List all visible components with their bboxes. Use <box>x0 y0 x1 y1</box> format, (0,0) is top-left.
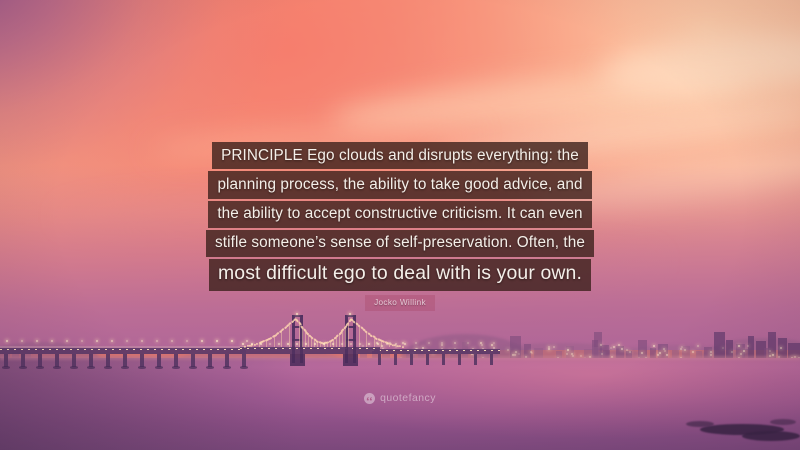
bridge-hanger <box>274 336 275 347</box>
causeway-lamp <box>201 340 203 342</box>
bridge-deck-lamp <box>260 343 262 345</box>
causeway-railing <box>0 346 246 348</box>
quote-line: planning process, the ability to take go… <box>208 171 591 198</box>
causeway-lamp <box>231 340 233 342</box>
bridge-hanger <box>311 336 312 347</box>
main-span-deck-lights <box>240 348 380 349</box>
causeway-lamp <box>51 340 53 342</box>
bridge-deck-lamp <box>341 343 343 345</box>
causeway-pier-base <box>53 366 61 369</box>
bridge-tower-crossbeam <box>345 339 356 341</box>
approach-lamp <box>415 342 417 344</box>
tower-beacon-light <box>349 313 351 315</box>
approach-lamp <box>454 342 456 344</box>
quote-line: the ability to accept constructive criti… <box>208 201 591 228</box>
bridge-hanger <box>330 341 331 347</box>
causeway-lamp <box>126 340 128 342</box>
bridge-hanger <box>374 336 375 347</box>
causeway-lamp <box>6 340 8 342</box>
bridge-hanger <box>317 341 318 347</box>
bridge-deck-lamp <box>278 343 280 345</box>
causeway-pier-base <box>206 366 214 369</box>
author-attribution: Jocko Willink <box>0 292 800 311</box>
rock-outcrop <box>770 419 796 425</box>
bridge-deck-lamp <box>368 343 370 345</box>
causeway-pier-base <box>189 366 197 369</box>
approach-lamp <box>441 342 443 344</box>
causeway-lamp <box>36 340 38 342</box>
causeway-lamp <box>96 340 98 342</box>
bridge-deck-lamp <box>251 343 253 345</box>
bridge-deck-lamp <box>242 343 244 345</box>
bridge-hanger <box>348 322 349 347</box>
causeway-lamp <box>81 340 83 342</box>
causeway-pier-base <box>172 366 180 369</box>
bridge-deck-lamp <box>269 343 271 345</box>
causeway-pier-base <box>155 366 163 369</box>
approach-pier <box>474 354 477 365</box>
causeway-deck-lights <box>0 349 246 350</box>
causeway-pier-base <box>138 366 146 369</box>
quote-poster: PRINCIPLE Ego clouds and disrupts everyt… <box>0 0 800 450</box>
causeway-lamp <box>216 340 218 342</box>
bridge-hanger <box>336 336 337 347</box>
quote-text-block: PRINCIPLE Ego clouds and disrupts everyt… <box>0 142 800 291</box>
approach-lamp <box>493 342 495 344</box>
approach-pier <box>490 354 493 365</box>
approach-pier <box>394 354 397 365</box>
causeway-pier-base <box>104 366 112 369</box>
quote-mark-badge-icon <box>364 393 375 404</box>
author-name: Jocko Willink <box>365 295 435 312</box>
quote-line: most difficult ego to deal with is your … <box>209 259 591 290</box>
tower-beacon-light <box>296 313 298 315</box>
causeway-pier-base <box>19 366 27 369</box>
bridge-deck-lamp <box>377 343 379 345</box>
rock-outcrop <box>686 421 714 427</box>
bridge-hanger <box>281 331 282 347</box>
bridge-deck-lamp <box>350 343 352 345</box>
approach-pier <box>442 354 445 365</box>
bridge-deck-lamp <box>296 343 298 345</box>
causeway-lamp <box>186 340 188 342</box>
causeway-pier-base <box>121 366 129 369</box>
bridge-deck-lamp <box>287 343 289 345</box>
bridge-deck-lamp <box>386 343 388 345</box>
bridge-hanger <box>308 333 309 347</box>
approach-lamp <box>480 342 482 344</box>
bridge-hanger <box>299 322 300 347</box>
causeway-lamp <box>66 340 68 342</box>
watermark: quotefancy <box>0 393 800 404</box>
bridge-hanger <box>389 343 390 347</box>
bridge-hanger <box>339 333 340 347</box>
bridge-deck-lamp <box>359 343 361 345</box>
quote-line: stifle someone’s sense of self-preservat… <box>206 230 594 257</box>
bridge-hanger <box>345 326 346 347</box>
bridge-deck-lamp <box>404 343 406 345</box>
causeway-pier-base <box>240 366 248 369</box>
causeway-pier-base <box>70 366 78 369</box>
bridge-hanger <box>320 342 321 347</box>
causeway-lamp <box>141 340 143 342</box>
approach-lamp <box>428 342 430 344</box>
bridge-hanger <box>381 340 382 347</box>
bridge-hanger <box>327 342 328 347</box>
side-cable <box>401 346 404 348</box>
suspension-bridge <box>0 300 800 390</box>
quote-line: PRINCIPLE Ego clouds and disrupts everyt… <box>212 142 588 169</box>
side-cable <box>253 344 256 346</box>
bridge-tower-base <box>290 354 305 366</box>
approach-pier <box>458 354 461 365</box>
approach-pier <box>426 354 429 365</box>
causeway-pier-base <box>87 366 95 369</box>
causeway-lamp <box>246 340 248 342</box>
causeway-lamp <box>111 340 113 342</box>
bridge-hanger <box>266 340 267 347</box>
bridge-hanger <box>302 326 303 347</box>
rock-outcrop <box>742 431 800 441</box>
causeway-lamp <box>21 340 23 342</box>
approach-pier <box>378 354 381 365</box>
bridge-tower-crossbeam <box>345 315 356 317</box>
causeway-pier-base <box>36 366 44 369</box>
causeway-lamp <box>171 340 173 342</box>
causeway-pier-base <box>223 366 231 369</box>
watermark-text: quotefancy <box>380 393 436 404</box>
approach-deck-lights <box>372 350 500 351</box>
bridge-deck-lamp <box>305 343 307 345</box>
bridge-tower-base <box>343 354 358 366</box>
bridge-tower-crossbeam <box>292 315 303 317</box>
bridge-deck-lamp <box>323 343 325 345</box>
bridge-hanger <box>396 345 397 347</box>
bridge-deck-lamp <box>314 343 316 345</box>
bridge-deck-lamp <box>332 343 334 345</box>
approach-lamp <box>467 342 469 344</box>
bridge-deck-lamp <box>395 343 397 345</box>
causeway-pier-base <box>2 366 10 369</box>
causeway-lamp <box>156 340 158 342</box>
bridge-hanger <box>366 331 367 347</box>
approach-pier <box>410 354 413 365</box>
